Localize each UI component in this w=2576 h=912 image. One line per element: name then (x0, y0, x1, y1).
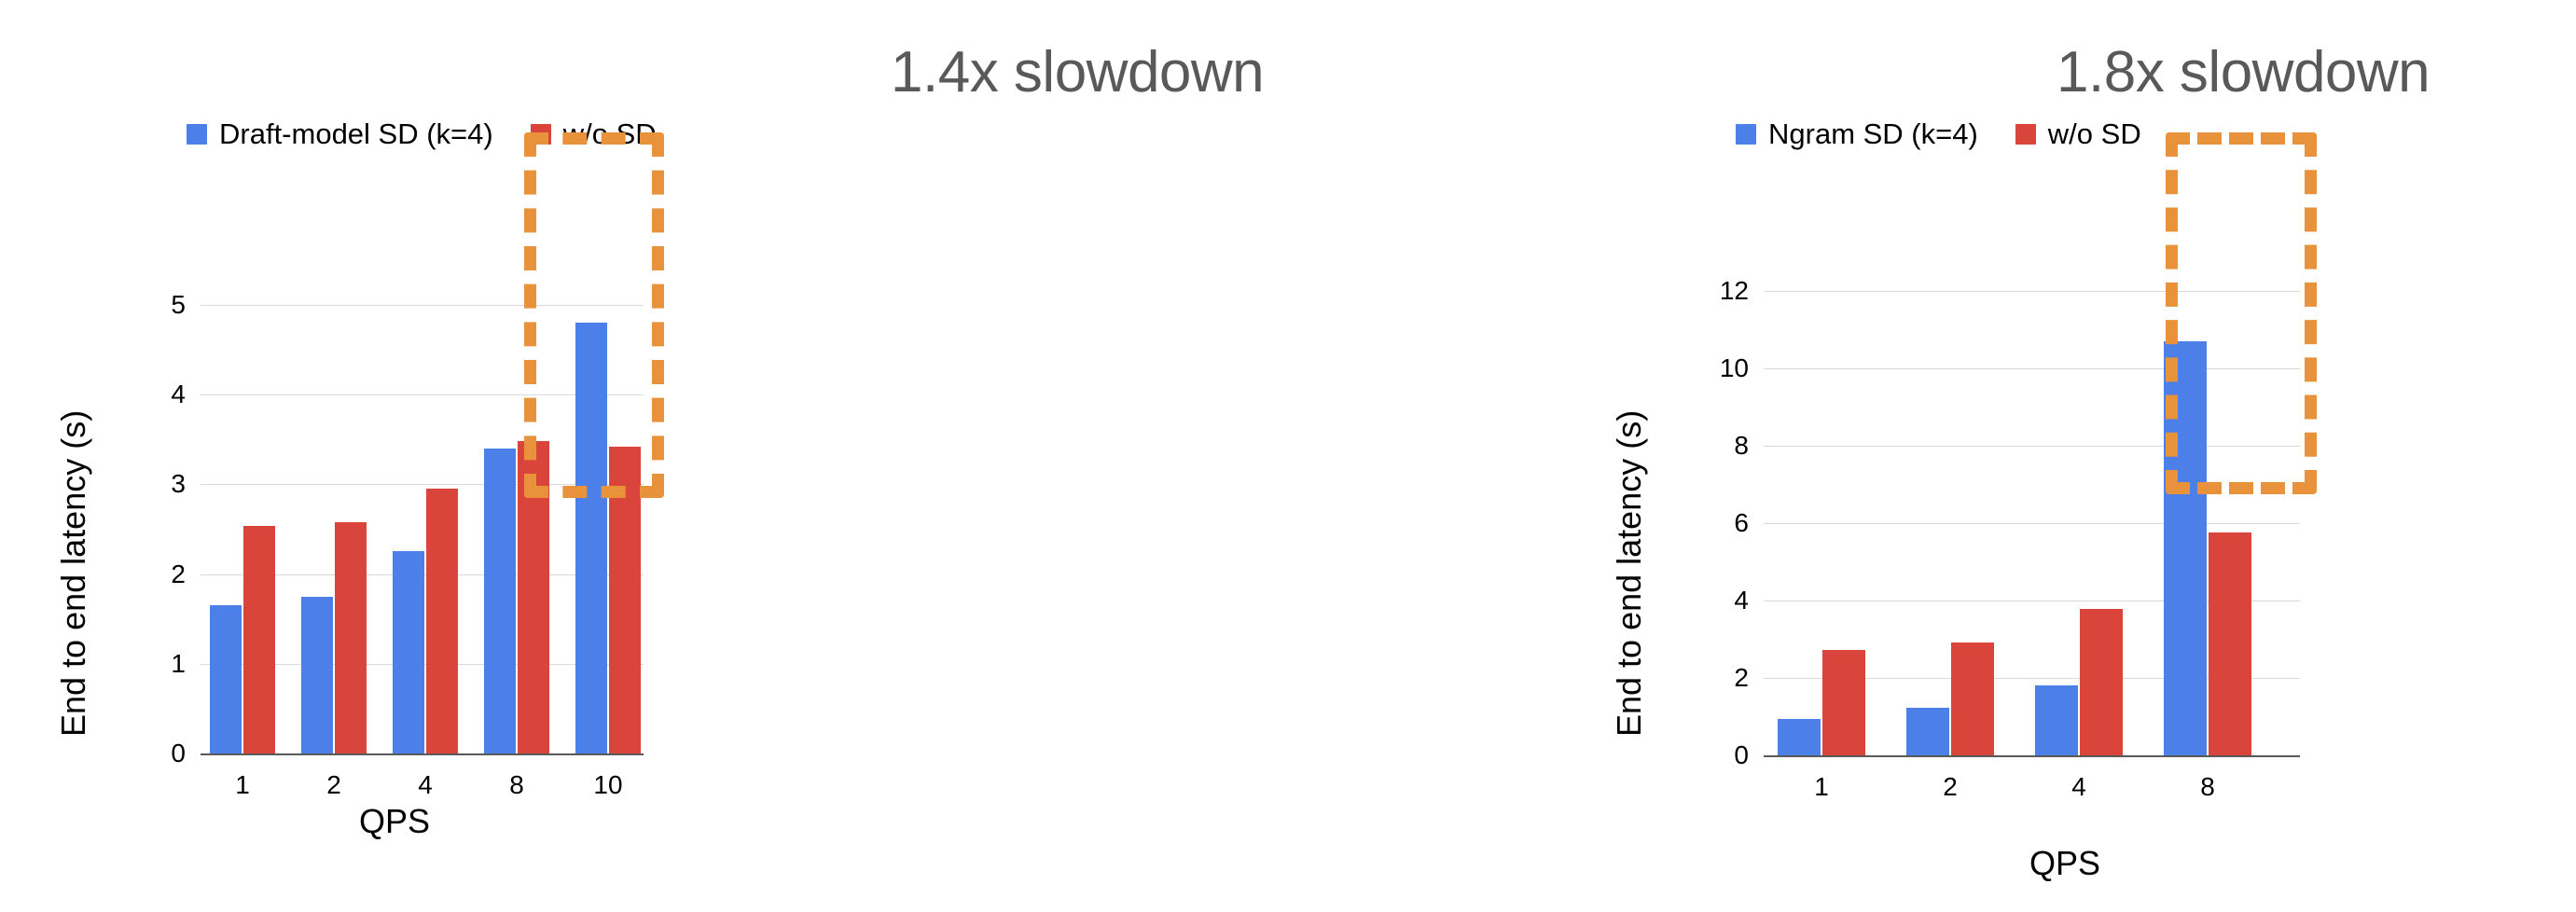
bar[interactable] (1906, 708, 1949, 755)
x-axis-tick-label: 8 (509, 770, 524, 800)
x-axis-title-right: QPS (2029, 844, 2100, 883)
y-axis-title-left: End to end latency (s) (54, 410, 93, 737)
legend-label: w/o SD (563, 119, 657, 148)
panel-title-right: 1.8x slowdown (2057, 39, 2430, 105)
x-axis-tick-label: 1 (1814, 772, 1829, 802)
bar[interactable] (575, 323, 607, 753)
x-axis-tick-label: 8 (2200, 772, 2215, 802)
bar[interactable] (484, 449, 516, 753)
x-axis-line (1764, 755, 2300, 757)
chart-panel-left: 1.4x slowdown End to end latency (s) QPS… (0, 0, 1288, 912)
y-axis-tick-label: 2 (1734, 663, 1749, 693)
y-axis-tick-label: 0 (171, 739, 186, 768)
bar[interactable] (393, 551, 424, 753)
bar[interactable] (1822, 650, 1865, 755)
bar[interactable] (1778, 719, 1821, 755)
y-axis-tick-label: 4 (1734, 586, 1749, 615)
y-axis-tick-label: 2 (171, 560, 186, 589)
bar[interactable] (426, 489, 458, 753)
gridline (1764, 446, 2300, 447)
y-axis-tick-label: 3 (171, 469, 186, 499)
gridline (1764, 368, 2300, 369)
legend-label: Draft-model SD (k=4) (219, 119, 493, 148)
bar[interactable] (2035, 685, 2078, 755)
legend-label: w/o SD (2048, 119, 2141, 148)
y-axis-tick-label: 12 (1720, 276, 1749, 306)
x-axis-tick-label: 10 (593, 770, 622, 800)
legend-item-no-sd[interactable]: w/o SD (531, 119, 657, 148)
bar[interactable] (243, 526, 275, 753)
panel-title-left: 1.4x slowdown (891, 39, 1264, 105)
y-axis-tick-label: 6 (1734, 508, 1749, 538)
x-axis-tick-label: 4 (418, 770, 433, 800)
legend-swatch-icon (1736, 124, 1756, 145)
bar[interactable] (2164, 341, 2207, 755)
bar[interactable] (518, 441, 549, 753)
legend-swatch-icon (187, 124, 207, 145)
bar[interactable] (210, 605, 242, 753)
slide-canvas: 1.4x slowdown End to end latency (s) QPS… (0, 0, 2576, 912)
chart-legend-left: Draft-model SD (k=4) w/o SD (187, 119, 657, 148)
legend-swatch-icon (2015, 124, 2036, 145)
legend-swatch-icon (531, 124, 551, 145)
y-axis-tick-label: 1 (171, 649, 186, 679)
y-axis-tick-label: 0 (1734, 740, 1749, 770)
x-axis-tick-label: 1 (235, 770, 250, 800)
x-axis-title-left: QPS (359, 802, 430, 841)
x-axis-tick-label: 2 (326, 770, 341, 800)
bar[interactable] (2209, 532, 2251, 755)
plot-area-left: 012345124810 (201, 305, 644, 753)
legend-item-sd[interactable]: Draft-model SD (k=4) (187, 119, 493, 148)
legend-item-no-sd[interactable]: w/o SD (2015, 119, 2141, 148)
y-axis-title-right: End to end latency (s) (1610, 410, 1649, 737)
bar[interactable] (335, 522, 367, 753)
gridline (201, 305, 644, 306)
gridline (1764, 291, 2300, 292)
y-axis-tick-label: 10 (1720, 353, 1749, 383)
x-axis-tick-label: 2 (1943, 772, 1958, 802)
bar[interactable] (2080, 609, 2123, 755)
y-axis-tick-label: 4 (171, 380, 186, 409)
y-axis-tick-label: 5 (171, 290, 186, 320)
bar[interactable] (609, 447, 641, 753)
legend-label: Ngram SD (k=4) (1768, 119, 1978, 148)
x-axis-line (201, 753, 644, 755)
x-axis-tick-label: 4 (2071, 772, 2086, 802)
chart-panel-right: End to end latency (s) QPS Ngram SD (k=4… (1288, 0, 2576, 912)
bar[interactable] (1951, 643, 1994, 755)
y-axis-tick-label: 8 (1734, 431, 1749, 461)
bar[interactable] (301, 597, 333, 753)
legend-item-sd[interactable]: Ngram SD (k=4) (1736, 119, 1978, 148)
gridline (1764, 523, 2300, 524)
plot-area-right: 0246810121248 (1764, 291, 2300, 755)
chart-legend-right: Ngram SD (k=4) w/o SD (1736, 119, 2141, 148)
